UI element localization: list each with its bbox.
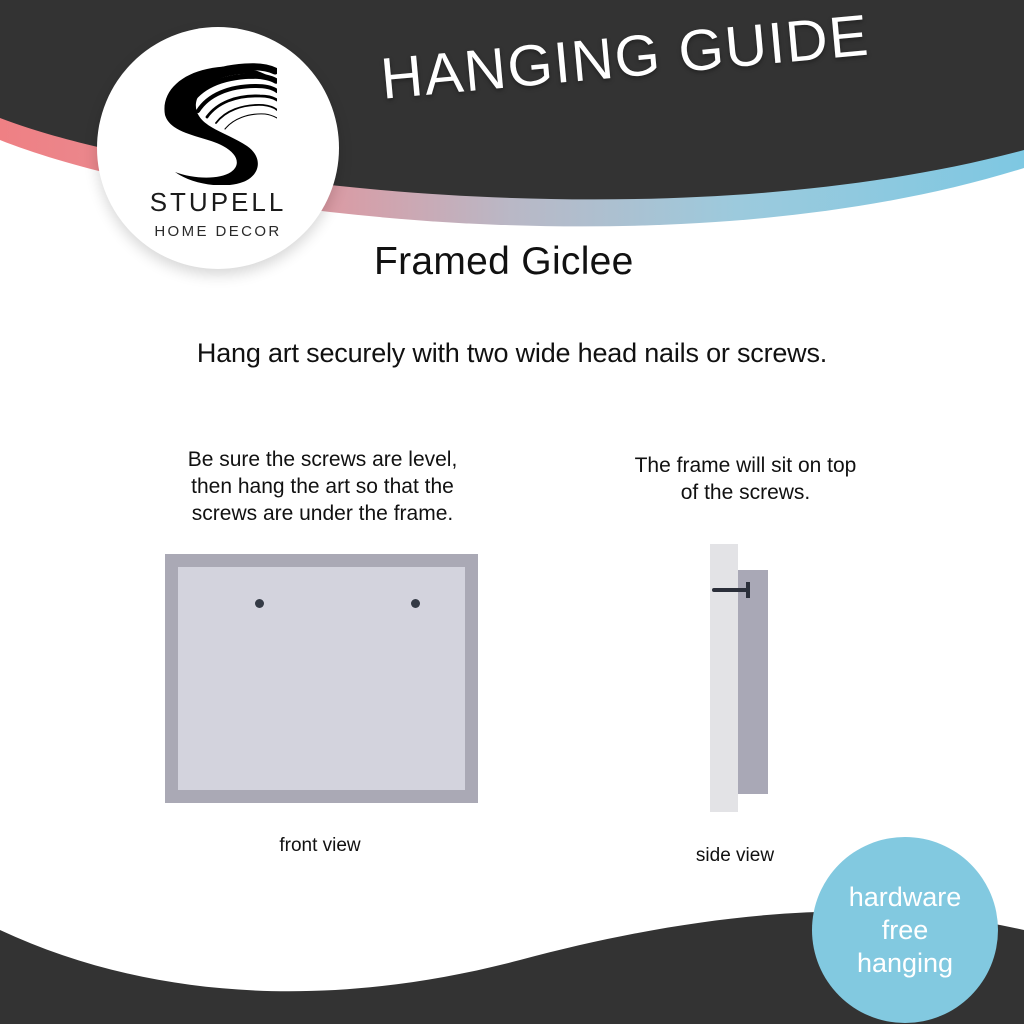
- front-caption-line-2: then hang the art so that the: [150, 473, 495, 500]
- side-view-caption: The frame will sit on top of the screws.: [588, 452, 903, 506]
- logo-brand-name: STUPELL: [150, 187, 287, 218]
- front-caption-line-1: Be sure the screws are level,: [150, 446, 495, 473]
- side-view-screw-shaft-icon: [712, 588, 748, 592]
- instruction-headline: Hang art securely with two wide head nai…: [0, 338, 1024, 369]
- side-view-frame-edge: [738, 570, 768, 794]
- logo-brand-subtitle: HOME DECOR: [154, 223, 281, 240]
- side-view-wall: [710, 544, 738, 812]
- side-view-frame-diagram: [700, 544, 790, 812]
- side-caption-line-2: of the screws.: [588, 479, 903, 506]
- front-view-screw-right-icon: [411, 599, 420, 608]
- side-caption-line-1: The frame will sit on top: [588, 452, 903, 479]
- front-view-frame-diagram: [165, 554, 478, 803]
- badge-line-3: hanging: [857, 947, 953, 980]
- side-view-label: side view: [630, 845, 840, 867]
- badge-line-2: free: [882, 914, 929, 947]
- stupell-s-swoosh-icon: [159, 53, 277, 185]
- front-view-art-panel: [178, 567, 465, 790]
- page-title: HANGING GUIDE: [378, 2, 872, 113]
- hanging-guide-infographic: STUPELL HOME DECOR HANGING GUIDE Framed …: [0, 0, 1024, 1024]
- front-caption-line-3: screws are under the frame.: [150, 500, 495, 527]
- side-view-screw-head-icon: [746, 582, 750, 598]
- hardware-free-hanging-badge: hardware free hanging: [812, 837, 998, 1023]
- front-view-screw-left-icon: [255, 599, 264, 608]
- front-view-label: front view: [170, 835, 470, 857]
- product-type-title: Framed Giclee: [374, 240, 634, 284]
- front-view-caption: Be sure the screws are level, then hang …: [150, 446, 495, 527]
- badge-line-1: hardware: [849, 881, 962, 914]
- brand-logo-badge: STUPELL HOME DECOR: [97, 27, 339, 269]
